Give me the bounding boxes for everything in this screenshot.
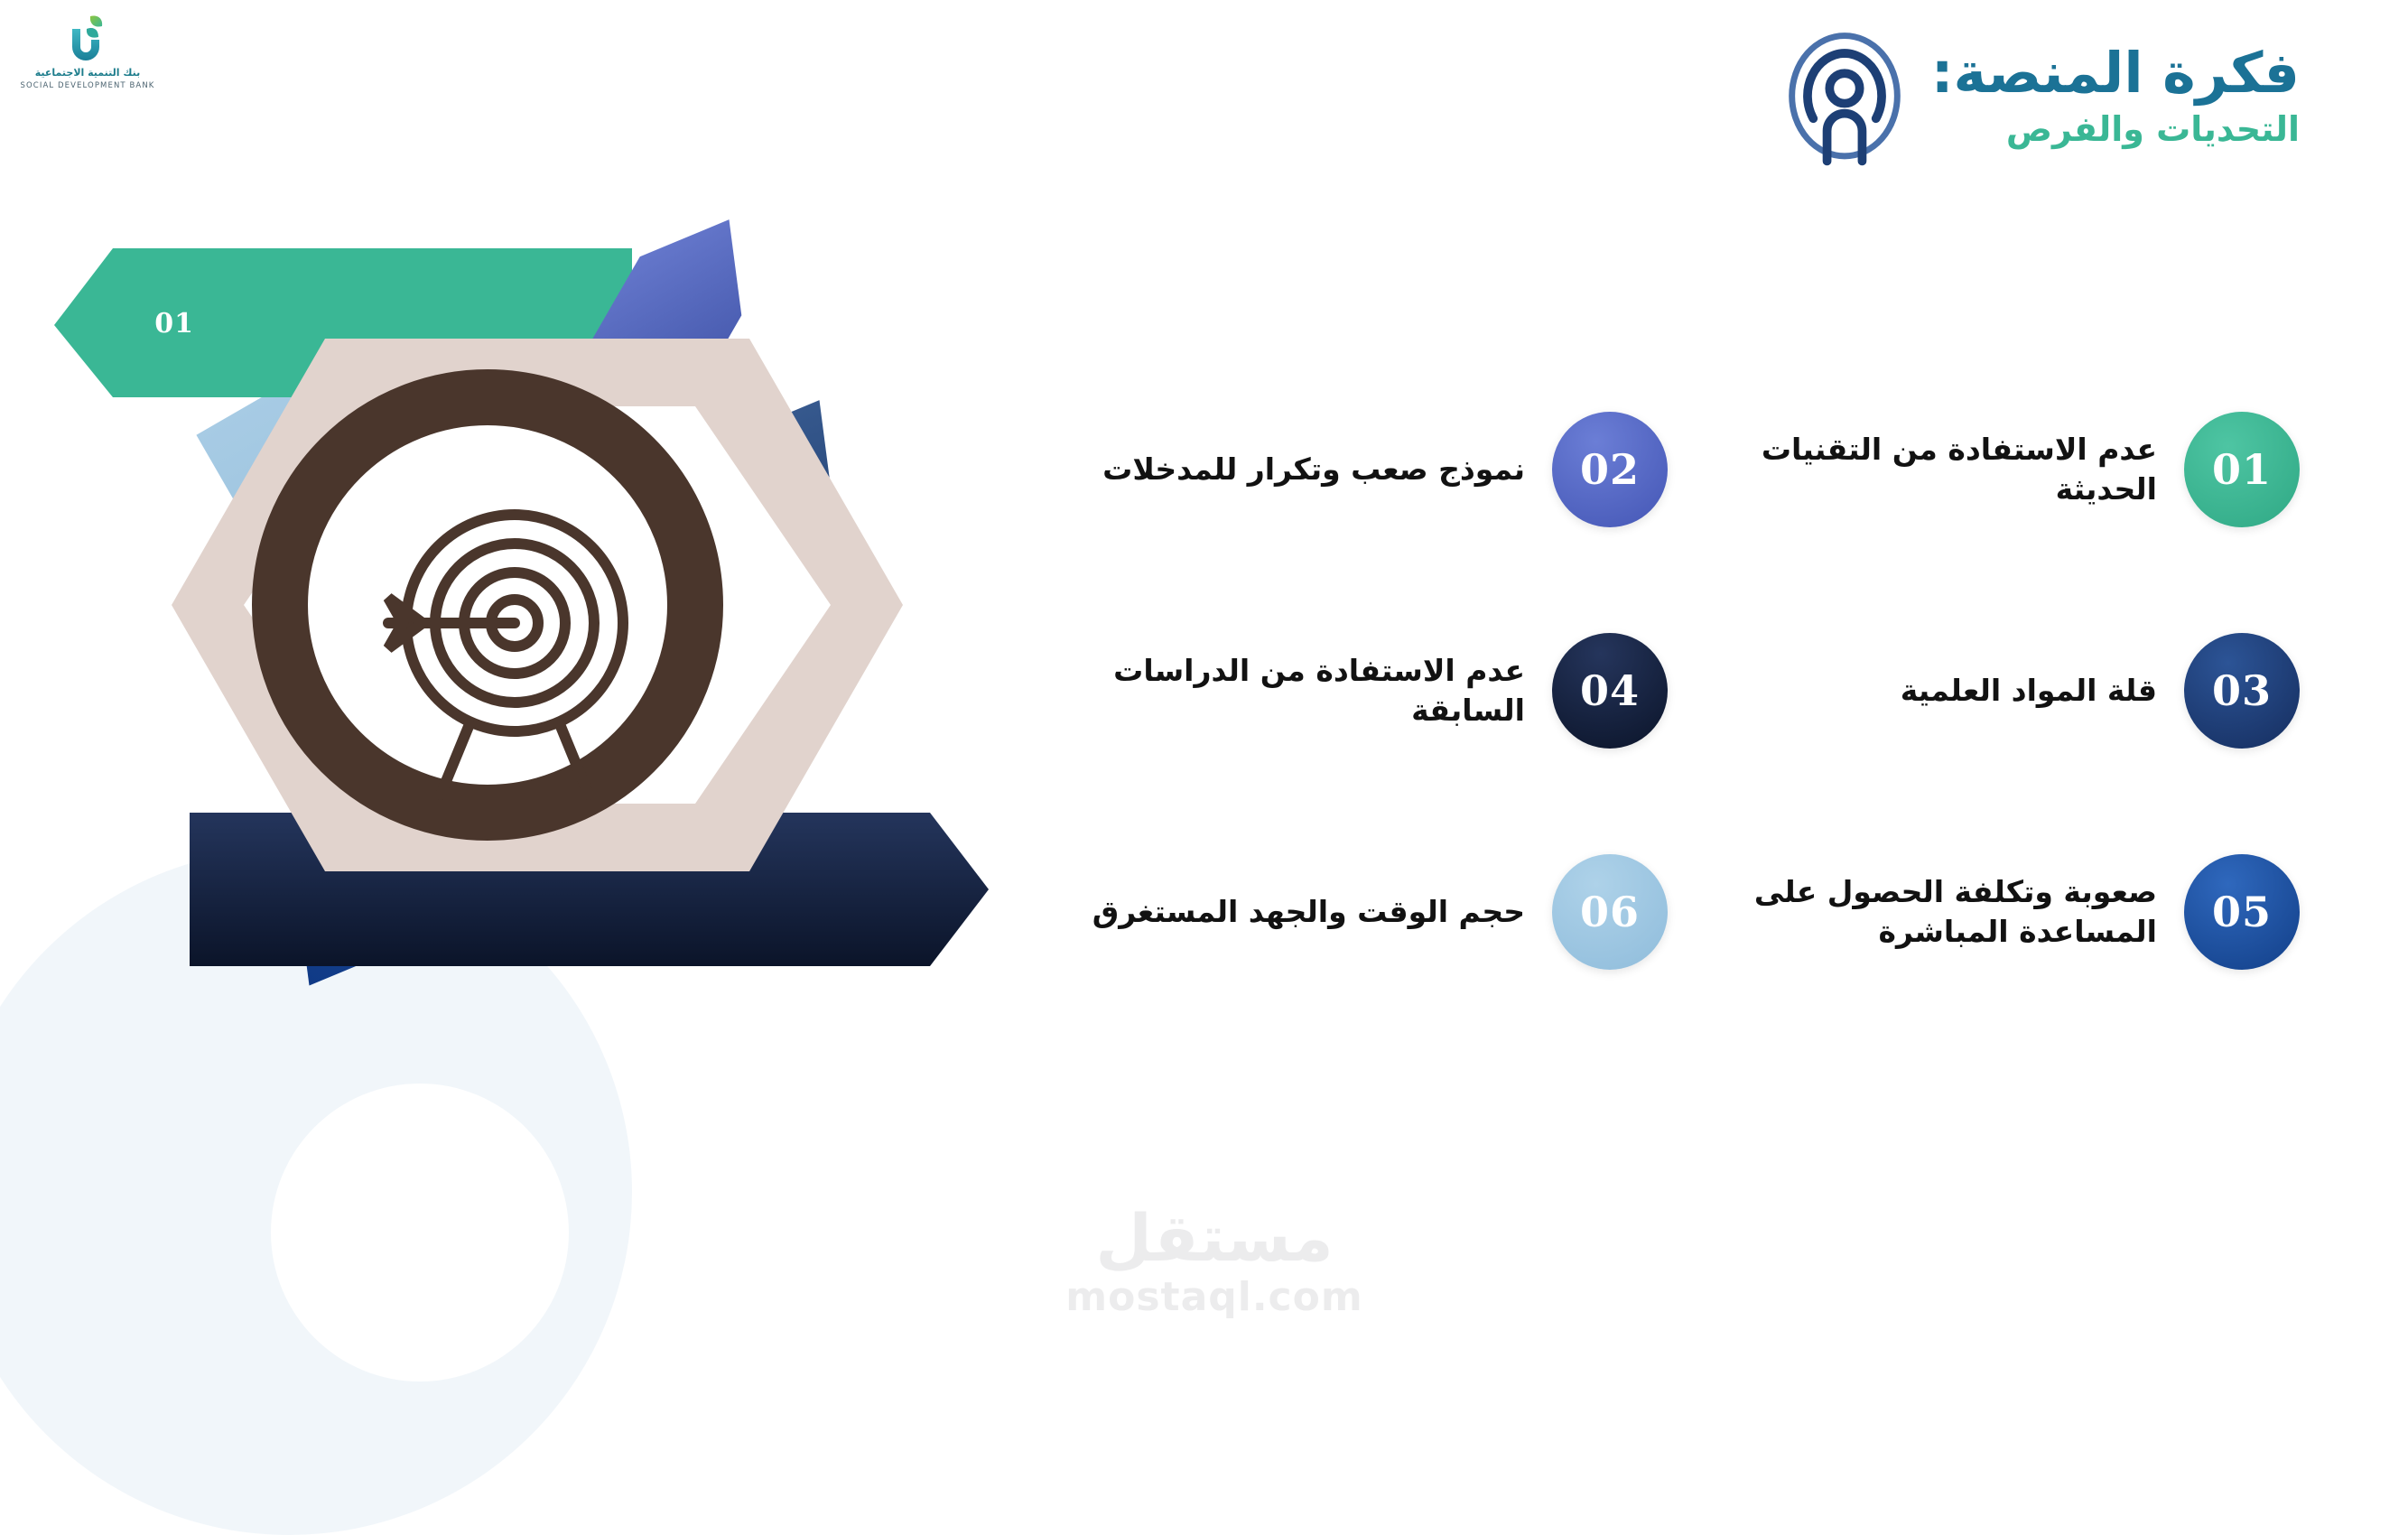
page-header: فكرة المنصة: التحديات والفرص <box>1781 43 2300 166</box>
hexagon-diagram-svg: 01 02 03 04 05 06 <box>0 81 1065 1147</box>
challenges-column-right: 01 عدم الاستفادة من التقنيات الحديثة 03 … <box>1704 397 2300 984</box>
segment-label-06: 06 <box>56 845 96 877</box>
status-badge: 02 <box>1552 412 1668 527</box>
segment-label-04: 04 <box>843 963 883 994</box>
list-item[interactable]: 02 نموذج صعب وتكرار للمدخلات <box>1072 397 1668 542</box>
list-item-label: حجم الوقت والجهد المستغرق <box>1072 892 1525 932</box>
challenges-columns: 01 عدم الاستفادة من التقنيات الحديثة 03 … <box>1018 397 2300 1029</box>
segment-label-03: 03 <box>925 465 964 497</box>
list-item-label: صعوبة وتكلفة الحصول على المساعدة المباشر… <box>1704 872 2157 951</box>
logo-arabic-name: بنك التنمية الاجتماعية <box>20 67 155 79</box>
podcast-broadcast-icon <box>1781 31 1908 166</box>
status-badge: 05 <box>2184 854 2300 970</box>
sdb-leaf-mark-icon <box>54 13 117 69</box>
segment-label-05: 05 <box>350 1097 390 1129</box>
list-item[interactable]: 01 عدم الاستفادة من التقنيات الحديثة <box>1704 397 2300 542</box>
list-item[interactable]: 04 عدم الاستفادة من الدراسات السابقة <box>1072 619 1668 763</box>
watermark-arabic: مستقل <box>1052 1205 1377 1270</box>
segment-label-02: 02 <box>648 194 688 226</box>
header-text-block: فكرة المنصة: التحديات والفرص <box>1931 43 2300 149</box>
list-item-label: نموذج صعب وتكرار للمدخلات <box>1072 450 1525 489</box>
challenges-column-left: 02 نموذج صعب وتكرار للمدخلات 04 عدم الاس… <box>1072 397 1668 984</box>
slide-canvas: بنك التنمية الاجتماعية SOCIAL DEVELOPMEN… <box>0 0 2408 1354</box>
mostaql-watermark: مستقل mostaql.com <box>1052 1205 1377 1320</box>
hexagon-infographic: 01 02 03 04 05 06 <box>0 81 1065 1147</box>
page-title: فكرة المنصة: <box>1931 43 2300 102</box>
list-item[interactable]: 05 صعوبة وتكلفة الحصول على المساعدة المب… <box>1704 840 2300 984</box>
list-item[interactable]: 06 حجم الوقت والجهد المستغرق <box>1072 840 1668 984</box>
status-badge: 01 <box>2184 412 2300 527</box>
list-item-label: عدم الاستفادة من التقنيات الحديثة <box>1704 430 2157 508</box>
status-badge: 03 <box>2184 633 2300 749</box>
list-item-label: عدم الاستفادة من الدراسات السابقة <box>1072 651 1525 730</box>
segment-label-01: 01 <box>154 308 194 340</box>
page-subtitle: التحديات والفرص <box>1931 109 2300 149</box>
watermark-english: mostaql.com <box>1052 1274 1377 1320</box>
list-item-label: قلة المواد العلمية <box>1704 671 2157 711</box>
status-badge: 04 <box>1552 633 1668 749</box>
status-badge: 06 <box>1552 854 1668 970</box>
list-item[interactable]: 03 قلة المواد العلمية <box>1704 619 2300 763</box>
